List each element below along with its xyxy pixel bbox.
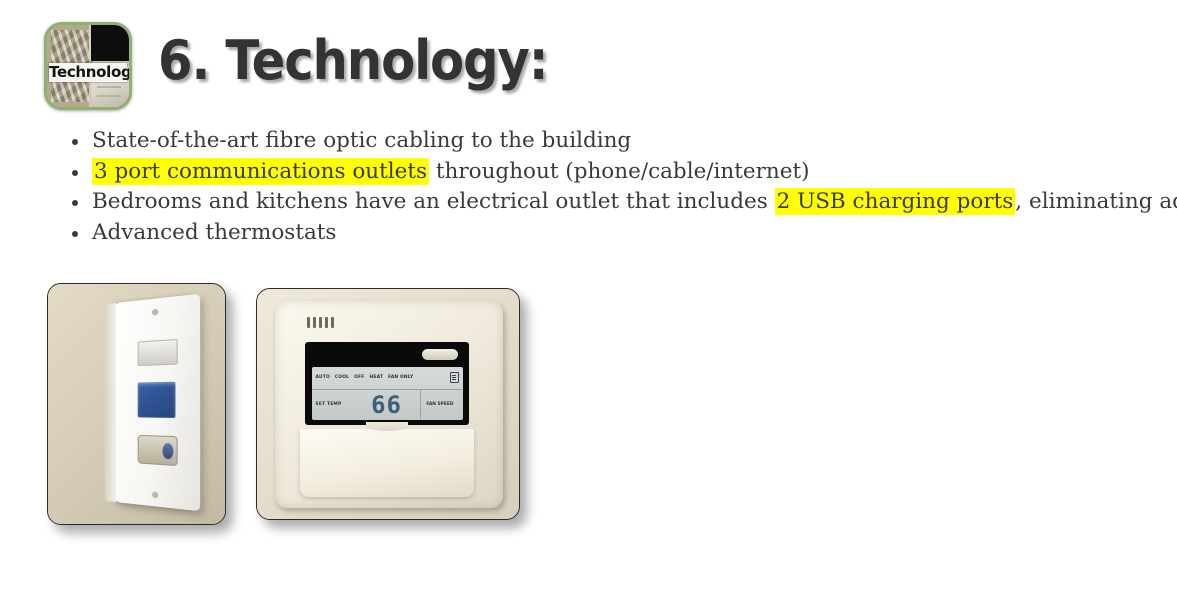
bullet-segment-highlighted: 2 USB charging ports xyxy=(775,188,1016,215)
lcd-reading-row: SET TEMP 66 FAN SPEED xyxy=(312,390,463,420)
bullet-list: State-of-the-art fibre optic cabling to … xyxy=(60,126,1170,248)
lcd-mode-fan-only: FAN ONLY xyxy=(388,375,413,380)
lcd-mode-row: AUTO COOL OFF HEAT FAN ONLY xyxy=(312,367,463,390)
ethernet-jack-port xyxy=(138,382,176,418)
lcd-set-temp-label: SET TEMP xyxy=(316,402,353,407)
plate-screw-bottom xyxy=(153,492,159,499)
bullet-segment: throughout (phone/cable/internet) xyxy=(429,159,809,184)
thermostat-button xyxy=(422,349,458,360)
list-item: State-of-the-art fibre optic cabling to … xyxy=(60,126,1170,157)
thermostat-screen-bezel: AUTO COOL OFF HEAT FAN ONLY SET TEMP 66 … xyxy=(305,342,469,425)
thermostat-vent-slots xyxy=(307,317,334,328)
slide-header: Technology 6. Technology: xyxy=(44,22,581,110)
thermostat-cover-door xyxy=(300,429,473,497)
bullet-segment: State-of-the-art fibre optic cabling to … xyxy=(92,128,631,153)
list-item: Advanced thermostats xyxy=(60,218,1170,249)
list-item: Bedrooms and kitchens have an electrical… xyxy=(60,187,1170,218)
list-item: 3 port communications outlets throughout… xyxy=(60,157,1170,188)
bullet-segment: , eliminating adapters xyxy=(1015,189,1177,214)
thermostat-lcd: AUTO COOL OFF HEAT FAN ONLY SET TEMP 66 … xyxy=(312,367,463,420)
icon-label: Technology xyxy=(49,63,127,82)
coax-connector-port xyxy=(138,435,178,466)
lcd-fan-speed-label: FAN SPEED xyxy=(420,390,458,420)
lcd-mode-off: OFF xyxy=(354,375,364,380)
lcd-mode-auto: AUTO xyxy=(316,375,330,380)
communications-outlet-photo xyxy=(47,283,226,525)
technology-photo-collage-icon: Technology xyxy=(44,22,132,110)
lcd-mode-heat: HEAT xyxy=(370,375,384,380)
thermostat-body: AUTO COOL OFF HEAT FAN ONLY SET TEMP 66 … xyxy=(275,301,503,508)
bullet-segment: Bedrooms and kitchens have an electrical… xyxy=(92,189,775,214)
bullet-segment-highlighted: 3 port communications outlets xyxy=(92,158,429,185)
page-title: 6. Technology: xyxy=(158,30,548,92)
lcd-temperature-value: 66 xyxy=(353,393,421,417)
lcd-document-icon xyxy=(450,372,459,383)
outlet-wall-plate xyxy=(115,294,201,512)
collage-screen-photo xyxy=(89,25,129,61)
bullet-segment: Advanced thermostats xyxy=(92,220,336,245)
lcd-mode-cool: COOL xyxy=(335,375,349,380)
phone-jack-port xyxy=(138,339,178,366)
plate-screw-top xyxy=(153,309,159,316)
thermostat-photo: AUTO COOL OFF HEAT FAN ONLY SET TEMP 66 … xyxy=(256,288,520,520)
